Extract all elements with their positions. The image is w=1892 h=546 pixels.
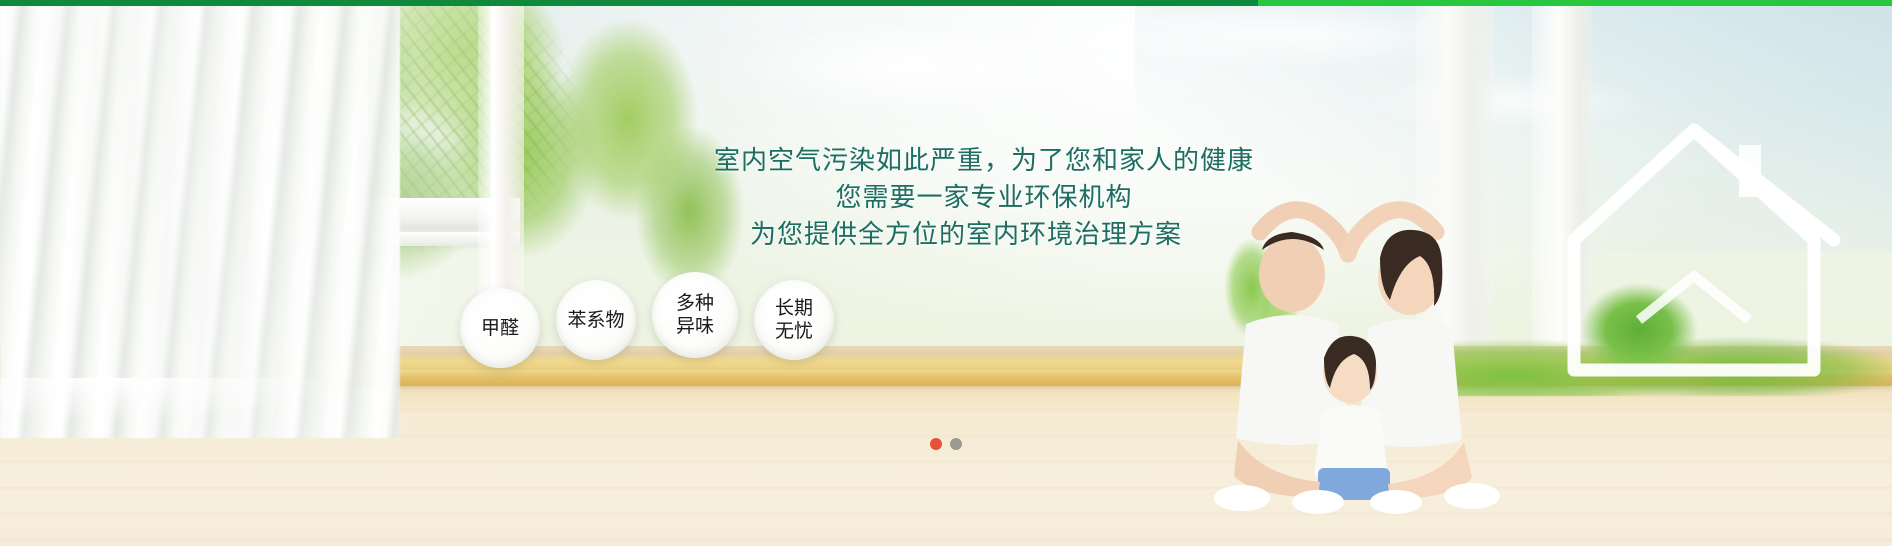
badge-odors-line-1: 多种 <box>676 292 714 315</box>
hero-banner: 室内空气污染如此严重，为了您和家人的健康 您需要一家专业环保机构 为您提供全方位… <box>0 0 1892 546</box>
badge-odors-line-2: 异味 <box>676 315 714 338</box>
top-bar-main-segment <box>0 0 1258 6</box>
badge-long-term-line-1: 长期 <box>775 297 813 320</box>
house-outline <box>1544 90 1874 390</box>
curtain-hem <box>0 378 380 438</box>
badge-benzene[interactable]: 苯系物 <box>556 280 636 360</box>
house-icon <box>1544 90 1874 390</box>
carousel-dot-1[interactable] <box>930 438 942 450</box>
curtain-folds <box>0 6 400 438</box>
badge-formaldehyde-line-1: 甲醛 <box>481 317 519 340</box>
feature-badge-group: 甲醛 苯系物 多种 异味 长期 无忧 <box>460 272 834 368</box>
badge-formaldehyde[interactable]: 甲醛 <box>460 288 540 368</box>
badge-long-term-line-2: 无忧 <box>775 320 813 343</box>
top-green-bar <box>0 0 1892 6</box>
top-bar-accent-segment <box>1258 0 1892 6</box>
badge-benzene-line-1: 苯系物 <box>567 309 624 332</box>
family-illustration <box>1142 146 1562 516</box>
badge-long-term[interactable]: 长期 无忧 <box>754 280 834 360</box>
carousel-pagination <box>0 438 1892 450</box>
carousel-dot-2[interactable] <box>950 438 962 450</box>
badge-odors[interactable]: 多种 异味 <box>652 272 738 358</box>
family-photo <box>1142 146 1562 516</box>
